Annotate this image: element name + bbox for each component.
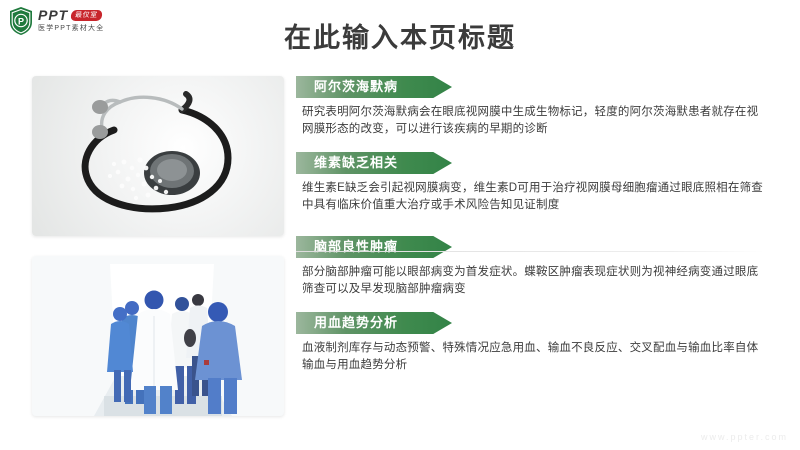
section-banner-blood-trend[interactable]: 用血趋势分析 — [296, 312, 452, 334]
section-divider — [296, 251, 764, 252]
medical-staff-illustration — [32, 256, 284, 416]
content-row: 维素缺乏相关 维生素E缺乏会引起视网膜病变，维生素D可用于治疗视网膜母细胞瘤通过… — [296, 152, 768, 214]
banner-label: 用血趋势分析 — [314, 312, 398, 334]
section-description: 研究表明阿尔茨海默病会在眼底视网膜中生成生物标记，轻度的阿尔茨海默患者就存在视网… — [296, 104, 764, 138]
photo-stethoscope — [32, 76, 284, 236]
section-description: 血液制剂库存与动态预警、特殊情况应急用血、输血不良反应、交叉配血与输血比率自体输… — [296, 340, 764, 374]
section-banner-vitamin[interactable]: 维素缺乏相关 — [296, 152, 452, 174]
section-banner-alzheimer[interactable]: 阿尔茨海默病 — [296, 76, 452, 98]
banner-label: 脑部良性肿瘤 — [314, 236, 398, 258]
section-description: 维生素E缺乏会引起视网膜病变，维生素D可用于治疗视网膜母细胞瘤通过眼底照相在筛查… — [296, 180, 764, 214]
content-rows: 阿尔茨海默病 研究表明阿尔茨海默病会在眼底视网膜中生成生物标记，轻度的阿尔茨海默… — [296, 76, 768, 388]
content-row: 用血趋势分析 血液制剂库存与动态预警、特殊情况应急用血、输血不良反应、交叉配血与… — [296, 312, 768, 374]
banner-label: 维素缺乏相关 — [314, 152, 398, 174]
content-row: 脑部良性肿瘤 部分脑部肿瘤可能以眼部病变为首发症状。蝶鞍区肿瘤表现症状则为视神经… — [296, 236, 768, 298]
banner-label: 阿尔茨海默病 — [314, 76, 398, 98]
footer-watermark: www.ppter.com — [701, 432, 788, 442]
photo-medical-staff — [32, 256, 284, 416]
section-description: 部分脑部肿瘤可能以眼部病变为首发症状。蝶鞍区肿瘤表现症状则为视神经病变通过眼底筛… — [296, 264, 764, 298]
page-title: 在此输入本页标题 — [0, 16, 800, 55]
stethoscope-illustration — [32, 76, 284, 236]
content-row: 阿尔茨海默病 研究表明阿尔茨海默病会在眼底视网膜中生成生物标记，轻度的阿尔茨海默… — [296, 76, 768, 138]
section-banner-brain-tumor[interactable]: 脑部良性肿瘤 — [296, 236, 452, 258]
